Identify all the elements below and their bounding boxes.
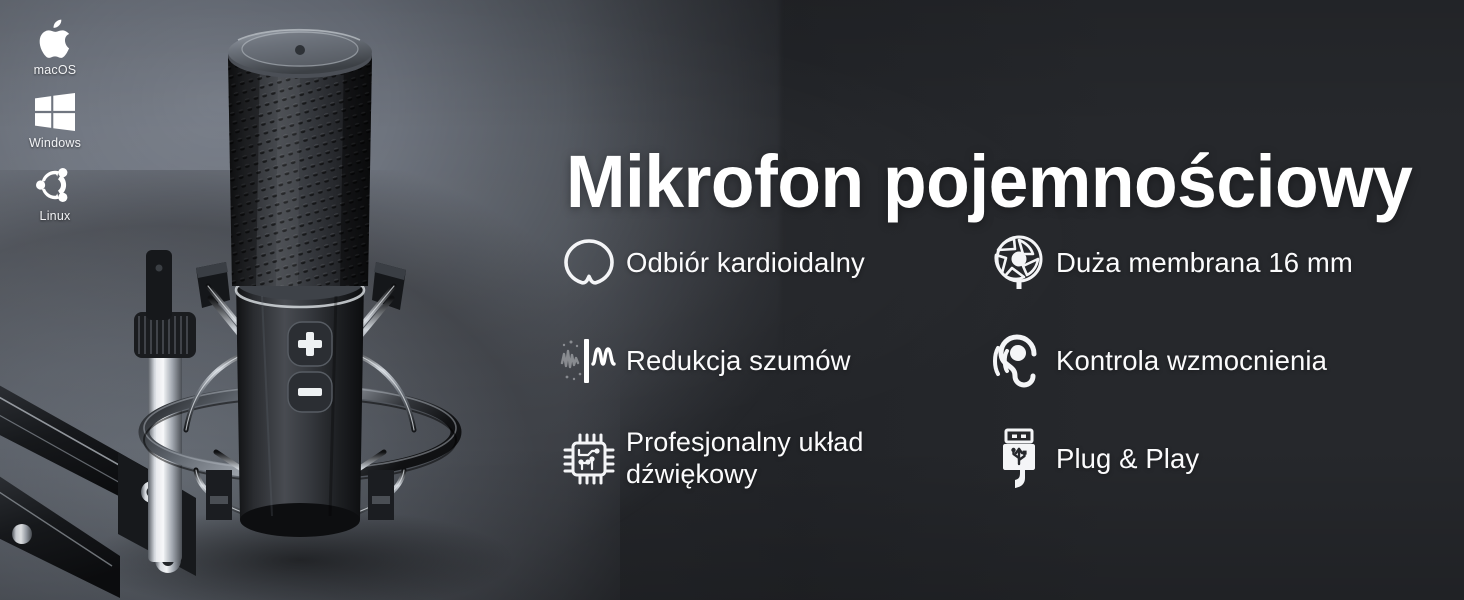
- product-banner: macOS Windows: [0, 0, 1464, 600]
- chip-icon: [552, 422, 626, 496]
- os-badge-linux: Linux: [16, 164, 94, 223]
- ubuntu-icon: [36, 164, 74, 206]
- gain-minus-button: [288, 372, 332, 412]
- ear-gain-control-icon: [982, 324, 1056, 398]
- apple-icon: [38, 18, 72, 60]
- feature-plug-and-play: Plug & Play: [982, 410, 1452, 508]
- mesh-grille: [228, 56, 372, 286]
- os-badge-windows: Windows: [16, 91, 94, 150]
- diaphragm-aperture-icon: [982, 226, 1056, 300]
- gain-plus-button: [288, 322, 332, 366]
- feature-pro-audio-chip: Profesjonalny układ dźwiękowy: [552, 410, 982, 508]
- cardioid-pattern-icon: [552, 226, 626, 300]
- os-compatibility-list: macOS Windows: [16, 18, 94, 237]
- feature-label-diaphragm: Duża membrana 16 mm: [1056, 247, 1353, 279]
- feature-diaphragm: Duża membrana 16 mm: [982, 214, 1452, 312]
- os-badge-macos: macOS: [16, 18, 94, 77]
- feature-label-pro-audio-chip: Profesjonalny układ dźwiękowy: [626, 427, 982, 490]
- windows-icon: [35, 91, 75, 133]
- os-label-windows: Windows: [29, 136, 81, 150]
- noise-reduction-icon: [552, 324, 626, 398]
- microphone-top-cap: [228, 30, 372, 78]
- feature-cardioid: Odbiór kardioidalny: [552, 214, 982, 312]
- feature-gain-control: Kontrola wzmocnienia: [982, 312, 1452, 410]
- feature-label-gain-control: Kontrola wzmocnienia: [1056, 345, 1327, 377]
- feature-noise-reduction: Redukcja szumów: [552, 312, 982, 410]
- feature-list: Odbiór kardioidalny Duża m: [552, 214, 1452, 508]
- os-label-macos: macOS: [34, 63, 77, 77]
- feature-label-cardioid: Odbiór kardioidalny: [626, 247, 865, 279]
- os-label-linux: Linux: [40, 209, 71, 223]
- feature-label-plug-and-play: Plug & Play: [1056, 443, 1199, 475]
- feature-label-noise-reduction: Redukcja szumów: [626, 345, 851, 377]
- page-title: Mikrofon pojemnościowy: [566, 145, 1415, 219]
- usb-icon: [982, 422, 1056, 496]
